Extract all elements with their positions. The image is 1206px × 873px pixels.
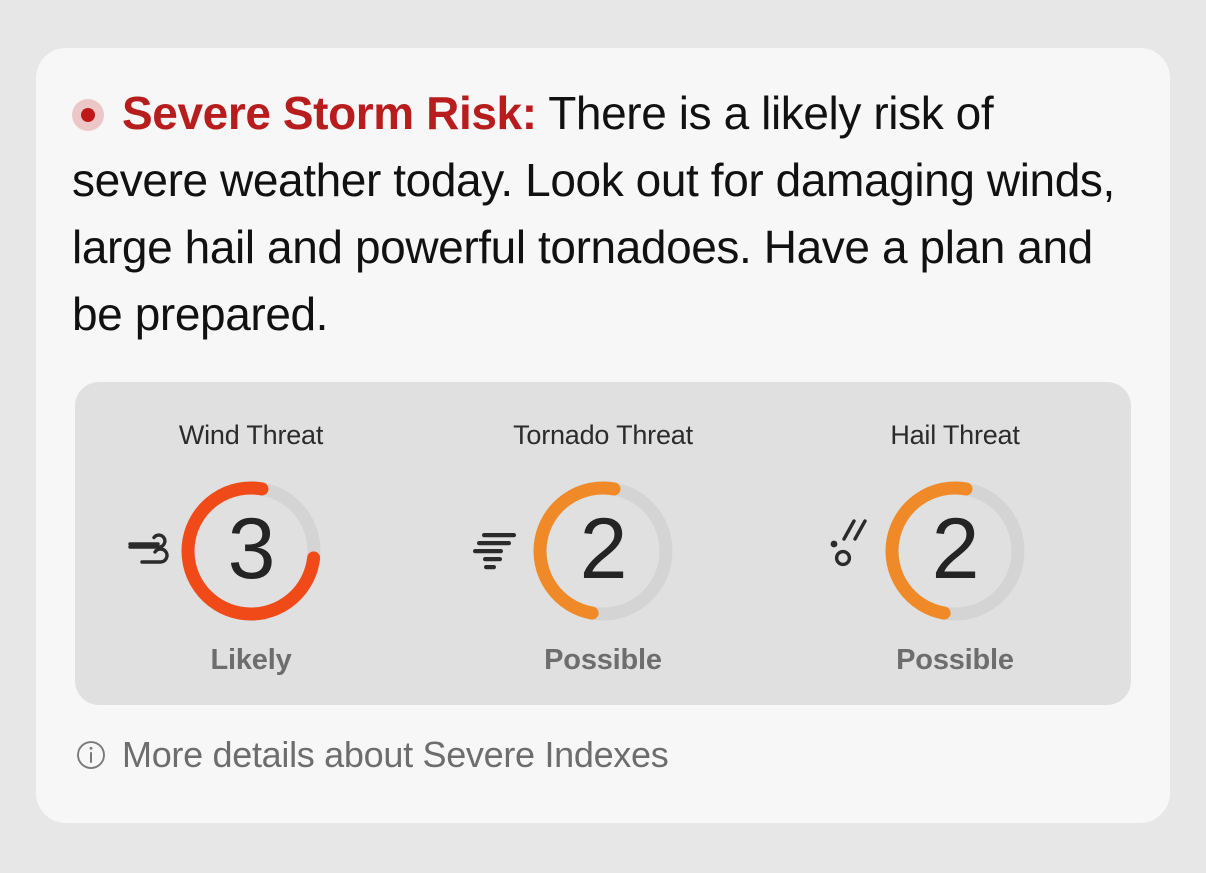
- severe-storm-risk-card: Severe Storm Risk: There is a likely ris…: [36, 48, 1170, 823]
- more-details-link[interactable]: More details about Severe Indexes: [76, 734, 668, 776]
- gauge-row-hail: 2: [779, 463, 1131, 638]
- threat-title-wind: Wind Threat: [179, 420, 323, 451]
- gauge-row-tornado: 2: [427, 463, 779, 638]
- threat-column-tornado: Tornado Threat 2: [427, 382, 779, 705]
- gauge-value-hail: 2: [875, 471, 1035, 631]
- hail-icon: [814, 515, 870, 571]
- threat-status-wind: Likely: [210, 644, 291, 677]
- threat-column-wind: Wind Threat 3 Likely: [75, 382, 427, 705]
- gauge-tornado: 2: [523, 471, 683, 631]
- tornado-icon: [467, 518, 523, 574]
- threat-column-hail: Hail Threat 2: [779, 382, 1131, 705]
- threat-title-hail: Hail Threat: [890, 420, 1019, 451]
- gauge-wind: 3: [171, 471, 331, 631]
- more-details-label: More details about Severe Indexes: [122, 734, 668, 776]
- threat-title-tornado: Tornado Threat: [513, 420, 693, 451]
- risk-label: Severe Storm Risk:: [122, 87, 537, 139]
- red-dot-icon: [72, 99, 104, 131]
- gauge-hail: 2: [875, 471, 1035, 631]
- threat-status-tornado: Possible: [544, 644, 662, 677]
- gauge-row-wind: 3: [75, 463, 427, 638]
- gauge-value-tornado: 2: [523, 471, 683, 631]
- threat-status-hail: Possible: [896, 644, 1014, 677]
- severe-risk-headline: Severe Storm Risk: There is a likely ris…: [72, 80, 1140, 348]
- info-circle-icon: [76, 740, 106, 770]
- threat-panel: Wind Threat 3 Likely: [75, 382, 1131, 705]
- gauge-value-wind: 3: [171, 471, 331, 631]
